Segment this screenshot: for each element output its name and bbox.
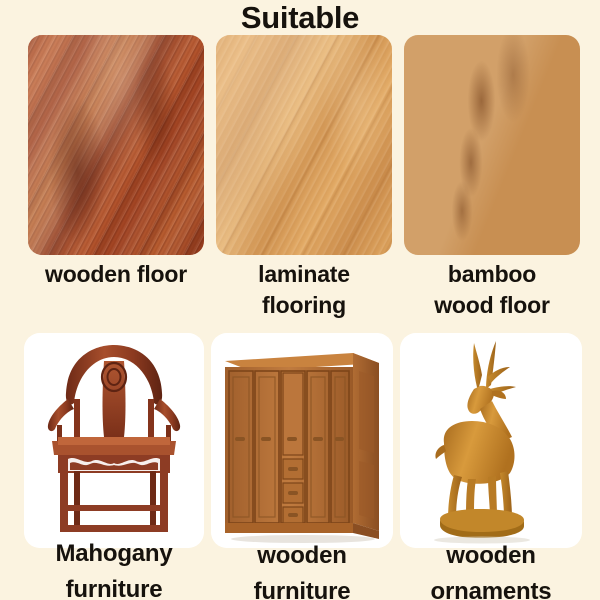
caption-wooden-ornaments: wooden ornaments [400, 538, 582, 600]
page-title: Suitable [0, 1, 600, 35]
dark-wood-texture [28, 35, 204, 255]
wooden-wardrobe-icon [211, 333, 393, 548]
caption-mahogany-furniture: Mahogany furniture [24, 536, 204, 600]
wooden-products-row: Mahogany furniture [0, 333, 600, 600]
bamboo-wood-floor-photo[interactable] [404, 35, 580, 255]
caption-bamboo-wood-floor: bamboo wood floor [404, 259, 580, 321]
grid-cell-wooden-furniture[interactable]: wooden furniture [211, 333, 393, 600]
laminate-flooring-photo[interactable] [216, 35, 392, 255]
grid-cell-mahogany-furniture[interactable]: Mahogany furniture [24, 333, 204, 600]
grid-cell-wooden-floor[interactable]: wooden floor [28, 35, 204, 290]
wooden-deer-ornament-photo[interactable] [400, 333, 582, 548]
light-wood-texture [216, 35, 392, 255]
caption-wooden-floor: wooden floor [28, 259, 204, 290]
flooring-types-row: wooden floor laminate flooring bamboo wo… [0, 35, 600, 330]
grid-cell-bamboo-wood-floor[interactable]: bamboo wood floor [404, 35, 580, 321]
grid-cell-wooden-ornaments[interactable]: wooden ornaments [400, 333, 582, 600]
caption-wooden-furniture: wooden furniture [211, 538, 393, 600]
caption-laminate-flooring: laminate flooring [216, 259, 392, 321]
dark-wooden-floor-photo[interactable] [28, 35, 204, 255]
mahogany-armchair-icon [24, 333, 204, 548]
bamboo-wood-texture [404, 35, 580, 255]
wooden-wardrobe-photo[interactable] [211, 333, 393, 548]
mahogany-armchair-photo[interactable] [24, 333, 204, 548]
wooden-deer-ornament-icon [400, 333, 582, 548]
grid-cell-laminate-flooring[interactable]: laminate flooring [216, 35, 392, 321]
